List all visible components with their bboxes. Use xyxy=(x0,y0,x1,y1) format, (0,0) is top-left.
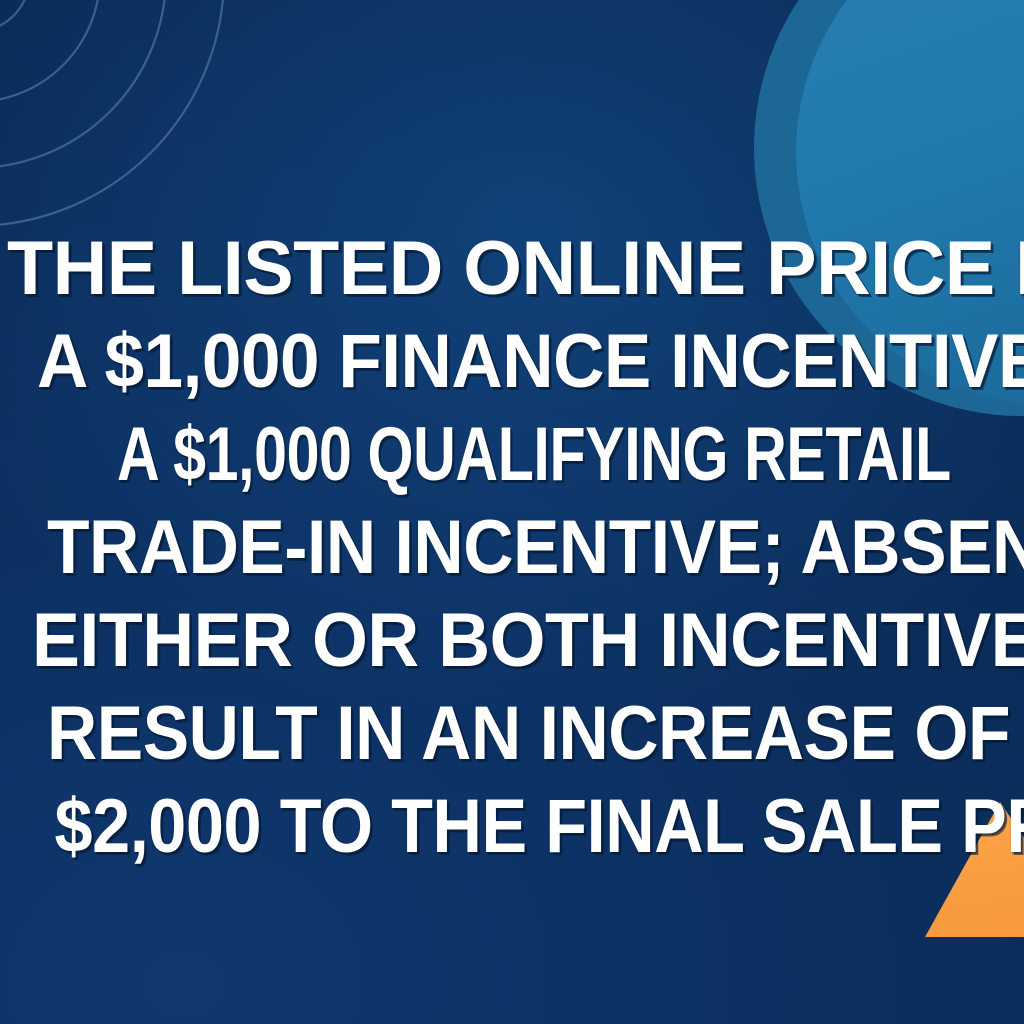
disclaimer-line: $2,000 TO THE FINAL SALE PRICE. xyxy=(54,780,969,873)
arc-ring-1 xyxy=(0,0,30,32)
disclaimer-line: A $1,000 FINANCE INCENTIVE AND xyxy=(37,315,987,408)
disclaimer-line: THE LISTED ONLINE PRICE REFLECTS xyxy=(7,222,1017,315)
promo-disclaimer-graphic: THE LISTED ONLINE PRICE REFLECTS A $1,00… xyxy=(0,0,1024,1024)
disclaimer-line: EITHER OR BOTH INCENTIVES WILL xyxy=(32,594,992,687)
arc-ring-3 xyxy=(0,0,166,168)
arc-ring-4 xyxy=(0,0,224,226)
concentric-arc-rings xyxy=(0,0,224,226)
disclaimer-line: A $1,000 QUALIFYING RETAIL xyxy=(117,408,907,501)
disclaimer-line: TRADE-IN INCENTIVE; ABSENCE OF xyxy=(47,501,977,594)
disclaimer-text-block: THE LISTED ONLINE PRICE REFLECTS A $1,00… xyxy=(0,222,1024,873)
disclaimer-line: RESULT IN AN INCREASE OF UP TO xyxy=(47,687,977,780)
